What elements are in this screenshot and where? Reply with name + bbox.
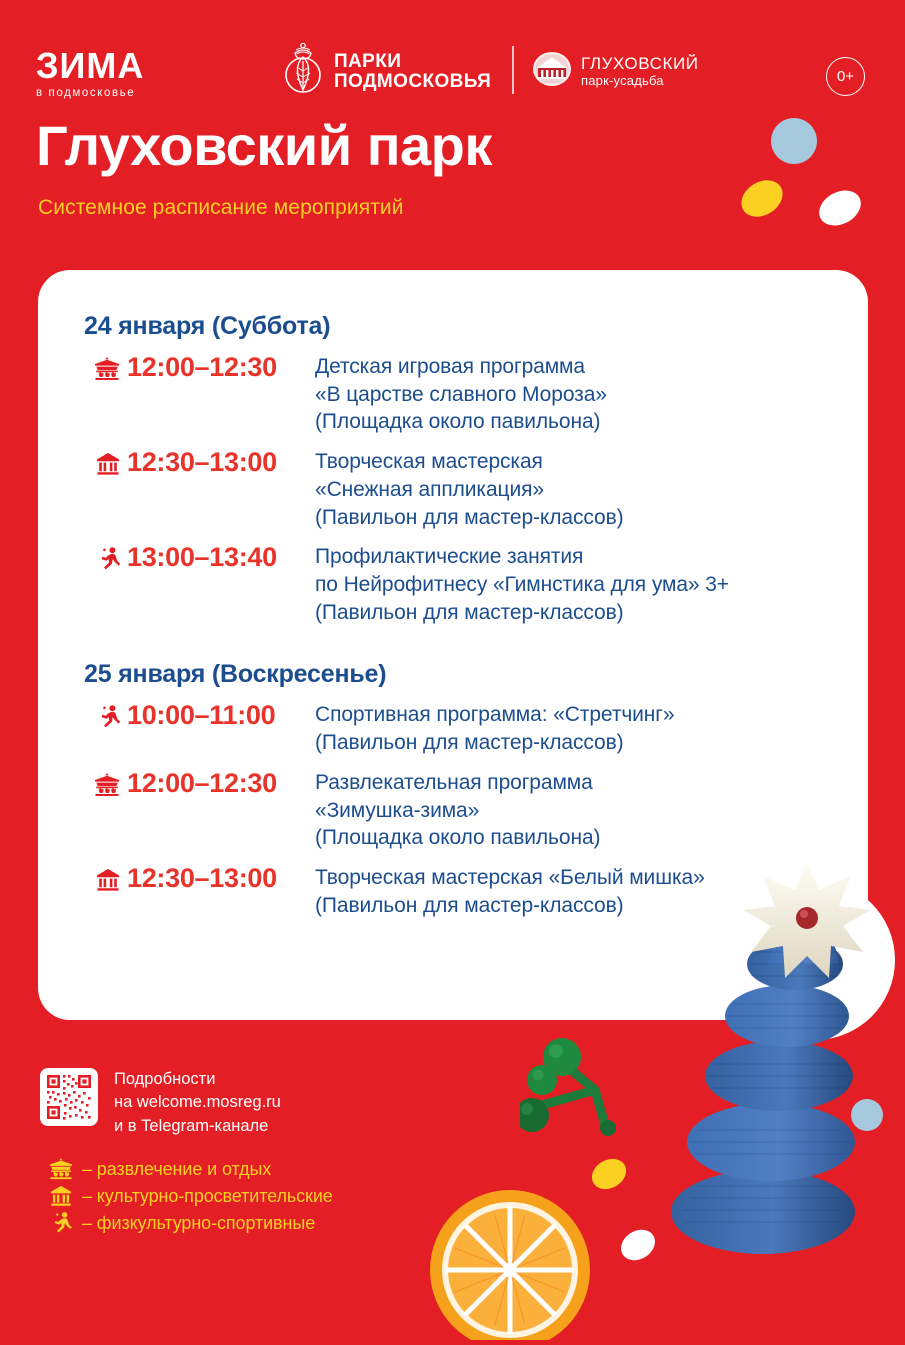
- event-time: 10:00–11:00: [120, 698, 315, 733]
- logo-bar: ЗИМА в подмосковье ПАРКИ ПОДМОСКОВЬЯ: [0, 0, 905, 115]
- event-row: 12:30–13:00 Творческая мастерская «Снежн…: [84, 445, 834, 531]
- age-rating-badge: 0+: [826, 57, 865, 96]
- event-row: 10:00–11:00 Спортивная программа: «Стрет…: [84, 698, 834, 756]
- museum-icon: [40, 1185, 82, 1207]
- qr-line: на welcome.mosreg.ru: [114, 1091, 281, 1114]
- event-line: (Площадка около павильона): [315, 408, 607, 436]
- legend-label: – культурно-просветительские: [82, 1186, 333, 1207]
- event-time: 13:00–13:40: [120, 540, 315, 575]
- event-line: Профилактические занятия: [315, 543, 729, 571]
- event-description: Творческая мастерская «Белый мишка» (Пав…: [315, 861, 705, 919]
- event-description: Творческая мастерская «Снежная аппликаци…: [315, 445, 624, 531]
- event-line: (Павильон для мастер-классов): [315, 729, 674, 757]
- event-time: 12:30–13:00: [120, 445, 315, 480]
- day-title: 25 января (Воскресенье): [84, 660, 834, 689]
- logo-parki-text: ПАРКИ ПОДМОСКОВЬЯ: [334, 52, 491, 92]
- logo-zima-word: ЗИМА: [36, 48, 144, 84]
- event-time: 12:30–13:00: [120, 861, 315, 896]
- legend-label: – физкультурно-спортивные: [82, 1213, 315, 1234]
- logo-parki-line1: ПАРКИ: [334, 52, 491, 72]
- event-description: Профилактические занятия по Нейрофитнесу…: [315, 540, 729, 626]
- event-row: 12:00–12:30 Детская игровая программа «В…: [84, 350, 834, 436]
- logo-gluhovsky-line2: парк-усадьба: [581, 74, 699, 89]
- qr-details-text: Подробности на welcome.mosreg.ru и в Tel…: [114, 1068, 281, 1138]
- decor-ellipse-white-bottom: [615, 1224, 660, 1267]
- day-title: 24 января (Суббота): [84, 312, 834, 341]
- qr-line: Подробности: [114, 1068, 281, 1091]
- legend-label: – развлечение и отдых: [82, 1159, 271, 1180]
- decor-circle-blue-top: [771, 118, 817, 164]
- legend-block: – развлечение и отдых – культурно-просве…: [40, 1158, 333, 1239]
- event-row: 13:00–13:40 Профилактические занятия по …: [84, 540, 834, 626]
- event-line: Творческая мастерская «Белый мишка»: [315, 864, 705, 892]
- manor-house-icon: [533, 50, 571, 93]
- qr-block[interactable]: Подробности на welcome.mosreg.ru и в Tel…: [40, 1068, 281, 1138]
- day-block: 25 января (Воскресенье) 10:00–11:00 Спор…: [84, 660, 834, 919]
- carousel-icon: [84, 350, 120, 381]
- legend-row: – культурно-просветительские: [40, 1185, 333, 1207]
- event-line: Детская игровая программа: [315, 353, 607, 381]
- decor-mistletoe: [520, 1010, 680, 1160]
- legend-row: – развлечение и отдых: [40, 1158, 333, 1180]
- decor-ellipse-yellow-top: [735, 173, 790, 224]
- runner-icon: [84, 698, 120, 729]
- event-line: Спортивная программа: «Стретчинг»: [315, 701, 674, 729]
- event-line: «Зимушка-зима»: [315, 797, 600, 825]
- legend-row: – физкультурно-спортивные: [40, 1212, 333, 1234]
- event-time: 12:00–12:30: [120, 766, 315, 801]
- logo-gluhovsky: ГЛУХОВСКИЙ парк-усадьба: [533, 50, 699, 93]
- pinecone-icon: [283, 43, 325, 100]
- event-description: Детская игровая программа «В царстве сла…: [315, 350, 607, 436]
- museum-icon: [84, 861, 120, 892]
- logo-parki-podmoskovya: ПАРКИ ПОДМОСКОВЬЯ: [283, 43, 491, 100]
- schedule-card: 24 января (Суббота) 12:00–12:30 Детская …: [38, 270, 868, 1020]
- event-line: по Нейрофитнесу «Гимнстика для ума» 3+: [315, 571, 729, 599]
- runner-icon: [84, 540, 120, 571]
- logo-parki-line2: ПОДМОСКОВЬЯ: [334, 72, 491, 92]
- event-line: «В царстве славного Мороза»: [315, 381, 607, 409]
- event-line: Творческая мастерская: [315, 448, 624, 476]
- qr-code-icon[interactable]: [40, 1068, 98, 1126]
- event-line: (Павильон для мастер-классов): [315, 504, 624, 532]
- page-title: Глуховский парк: [36, 118, 492, 174]
- event-line: Развлекательная программа: [315, 769, 600, 797]
- event-line: «Снежная аппликация»: [315, 476, 624, 504]
- logo-divider: [512, 46, 514, 94]
- logo-zima: ЗИМА в подмосковье: [36, 48, 144, 100]
- event-description: Развлекательная программа «Зимушка-зима»…: [315, 766, 600, 852]
- qr-line: и в Telegram-канале: [114, 1115, 281, 1138]
- page-subtitle: Системное расписание мероприятий: [38, 196, 404, 220]
- decor-ellipse-white-top: [813, 184, 867, 233]
- logo-gluhovsky-line1: ГЛУХОВСКИЙ: [581, 54, 699, 74]
- event-row: 12:30–13:00 Творческая мастерская «Белый…: [84, 861, 834, 919]
- event-row: 12:00–12:30 Развлекательная программа «З…: [84, 766, 834, 852]
- museum-icon: [84, 445, 120, 476]
- event-line: (Площадка около павильона): [315, 824, 600, 852]
- decor-orange-slice: [425, 1170, 595, 1340]
- logo-zima-sub: в подмосковье: [36, 88, 144, 100]
- carousel-icon: [84, 766, 120, 797]
- event-line: (Павильон для мастер-классов): [315, 599, 729, 627]
- day-block: 24 января (Суббота) 12:00–12:30 Детская …: [84, 312, 834, 626]
- logo-gluhovsky-text: ГЛУХОВСКИЙ парк-усадьба: [581, 54, 699, 88]
- decor-circle-blue-bottom: [851, 1099, 883, 1131]
- runner-icon: [40, 1212, 82, 1234]
- event-time: 12:00–12:30: [120, 350, 315, 385]
- event-description: Спортивная программа: «Стретчинг» (Павил…: [315, 698, 674, 756]
- event-line: (Павильон для мастер-классов): [315, 892, 705, 920]
- carousel-icon: [40, 1158, 82, 1180]
